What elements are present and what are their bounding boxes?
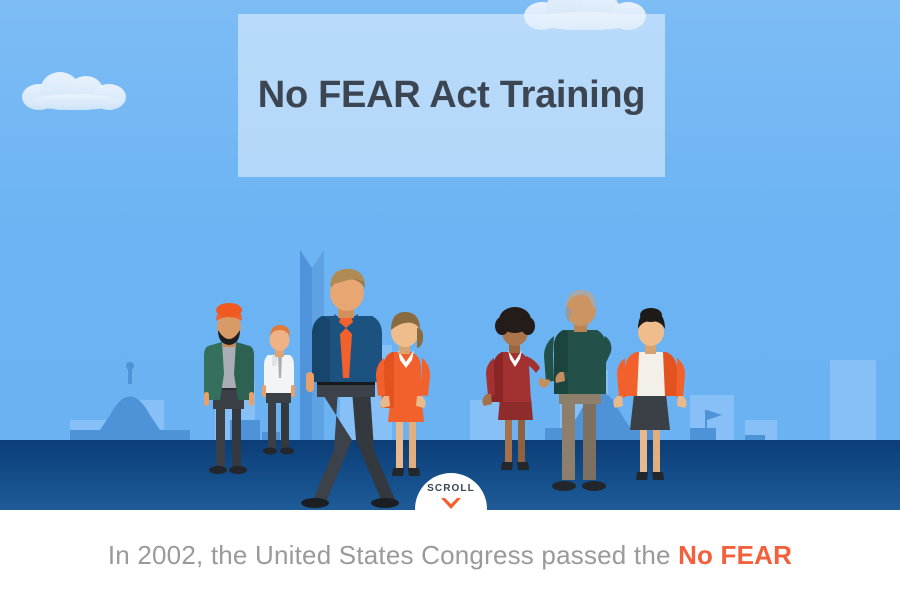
figure-man-green-sweater: [539, 290, 612, 491]
figure-man-white-shirt: [262, 325, 295, 455]
scroll-button-label: SCROLL: [427, 483, 475, 494]
cloud-left: [22, 70, 128, 110]
page-title: No FEAR Act Training: [238, 14, 665, 177]
intro-paragraph-prefix: In 2002, the United States Congress pass…: [108, 540, 678, 570]
page-root: No FEAR Act Training SCROLL In 2002, the…: [0, 0, 900, 600]
hero-banner: No FEAR Act Training: [0, 0, 900, 510]
figure-woman-orange-dress: [376, 312, 430, 476]
content-section: In 2002, the United States Congress pass…: [0, 510, 900, 600]
intro-paragraph-highlight: No FEAR: [678, 540, 792, 570]
figure-woman-red-dress: [482, 307, 540, 470]
figure-woman-orange-blazer: [613, 308, 686, 480]
figure-man-with-turban: [204, 303, 254, 474]
intro-paragraph: In 2002, the United States Congress pass…: [108, 540, 792, 571]
